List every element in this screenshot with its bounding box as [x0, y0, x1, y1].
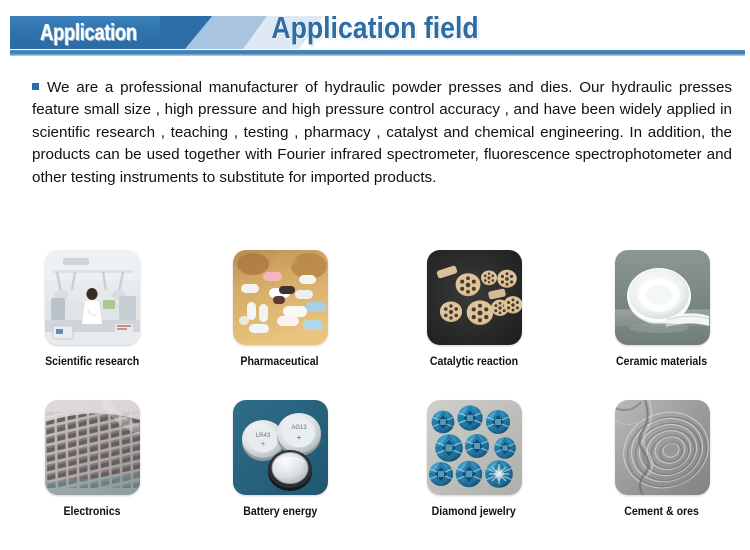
page-header: Application Application field [0, 0, 750, 62]
svg-text:+: + [296, 433, 301, 442]
gallery-item-diamond-jewelry[interactable]: Diamond jewelry [380, 400, 568, 550]
cement-texture-photo [615, 400, 710, 495]
button-cells-photo: LR43 + AG13 + [233, 400, 328, 495]
pills-photo [233, 250, 328, 345]
header-divider [10, 50, 745, 56]
intro-paragraph: We are a professional manufacturer of hy… [32, 77, 732, 189]
gallery-item-battery-energy[interactable]: LR43 + AG13 + Battery energy [186, 400, 374, 550]
svg-text:AG13: AG13 [291, 425, 307, 431]
gallery-caption: Scientific research [45, 356, 139, 368]
gallery-item-scientific-research[interactable]: Scientific research [0, 250, 186, 400]
blue-gemstones-photo [427, 400, 522, 495]
page-title: Application field [53, 10, 698, 46]
gallery-item-cement-ores[interactable]: Cement & ores [568, 400, 750, 550]
gallery-caption: Cement & ores [625, 506, 700, 518]
intro-block: We are a professional manufacturer of hy… [32, 77, 732, 189]
gallery-caption: Battery energy [243, 506, 317, 518]
gallery-row: Electronics LR4 [0, 400, 750, 550]
application-gallery: Scientific research [0, 250, 750, 550]
gallery-item-pharmaceutical[interactable]: Pharmaceutical [186, 250, 374, 400]
ceramic-bowl-photo [615, 250, 710, 345]
gallery-item-ceramic-materials[interactable]: Ceramic materials [568, 250, 750, 400]
gallery-item-catalytic-reaction[interactable]: Catalytic reaction [380, 250, 568, 400]
gallery-caption: Pharmaceutical [241, 356, 319, 368]
gallery-caption: Catalytic reaction [430, 356, 518, 368]
laboratory-photo [45, 250, 140, 345]
gallery-caption: Electronics [63, 506, 120, 518]
gallery-row: Scientific research [0, 250, 750, 400]
svg-text:+: + [260, 441, 264, 448]
svg-text:LR43: LR43 [255, 433, 270, 439]
intro-text: We are a professional manufacturer of hy… [32, 79, 732, 186]
gallery-caption: Diamond jewelry [432, 506, 516, 518]
catalyst-pellets-photo [427, 250, 522, 345]
square-bullet-icon [32, 83, 39, 90]
gallery-caption: Ceramic materials [616, 356, 707, 368]
gallery-item-electronics[interactable]: Electronics [0, 400, 186, 550]
silicon-wafer-photo [45, 400, 140, 495]
